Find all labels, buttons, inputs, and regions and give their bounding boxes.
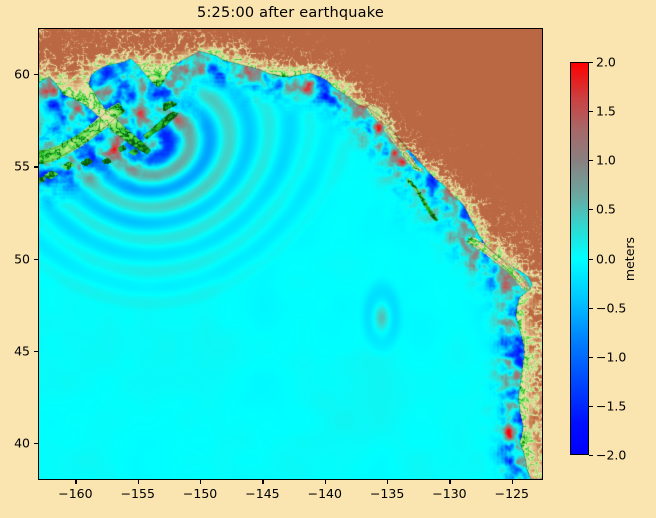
x-tick-mark bbox=[387, 480, 388, 484]
colorbar-tick-label: 0.5 bbox=[596, 202, 616, 217]
map-plot-area[interactable] bbox=[38, 28, 543, 480]
x-tick-label: −140 bbox=[308, 486, 342, 501]
x-tick-label: −125 bbox=[495, 486, 529, 501]
colorbar-tick-label: 2.0 bbox=[596, 55, 616, 70]
figure-canvas: 5:25:00 after earthquake −160−155−150−14… bbox=[0, 0, 656, 518]
colorbar-tick-label: 1.0 bbox=[596, 153, 616, 168]
y-tick-label: 55 bbox=[14, 159, 30, 174]
colorbar-tick-mark bbox=[589, 455, 593, 456]
x-tick-mark bbox=[138, 480, 139, 484]
colorbar-tick-mark bbox=[589, 259, 593, 260]
x-tick-mark bbox=[262, 480, 263, 484]
colorbar-tick-mark bbox=[589, 357, 593, 358]
colorbar-gradient[interactable] bbox=[570, 62, 589, 455]
colorbar-tick-label: 0.0 bbox=[596, 251, 616, 266]
colorbar-tick-mark bbox=[589, 62, 593, 63]
y-tick-label: 45 bbox=[14, 343, 30, 358]
colorbar-tick-label: 1.5 bbox=[596, 104, 616, 119]
colorbar-tick-label: −0.5 bbox=[596, 300, 626, 315]
x-tick-label: −145 bbox=[245, 486, 279, 501]
page-title: 5:25:00 after earthquake bbox=[38, 5, 543, 21]
x-tick-label: −150 bbox=[183, 486, 217, 501]
x-tick-mark bbox=[512, 480, 513, 484]
colorbar-tick-label: −2.0 bbox=[596, 448, 626, 463]
colorbar-label: meters bbox=[622, 237, 637, 281]
x-tick-label: −160 bbox=[58, 486, 92, 501]
y-tick-label: 40 bbox=[14, 436, 30, 451]
colorbar-tick-label: −1.0 bbox=[596, 349, 626, 364]
colorbar-tick-mark bbox=[589, 111, 593, 112]
colorbar-tick-label: −1.5 bbox=[596, 398, 626, 413]
y-tick-mark bbox=[34, 351, 38, 352]
colorbar-tick-mark bbox=[589, 308, 593, 309]
x-tick-mark bbox=[449, 480, 450, 484]
x-tick-mark bbox=[325, 480, 326, 484]
x-tick-mark bbox=[75, 480, 76, 484]
colorbar-tick-mark bbox=[589, 160, 593, 161]
y-tick-label: 50 bbox=[14, 251, 30, 266]
colorbar-tick-mark bbox=[589, 209, 593, 210]
y-tick-mark bbox=[34, 74, 38, 75]
tsunami-heatmap bbox=[39, 29, 542, 479]
x-tick-mark bbox=[200, 480, 201, 484]
x-tick-label: −130 bbox=[432, 486, 466, 501]
x-tick-label: −135 bbox=[370, 486, 404, 501]
y-tick-label: 60 bbox=[14, 67, 30, 82]
x-tick-label: −155 bbox=[121, 486, 155, 501]
y-tick-mark bbox=[34, 259, 38, 260]
y-tick-mark bbox=[34, 166, 38, 167]
y-tick-mark bbox=[34, 443, 38, 444]
colorbar-tick-mark bbox=[589, 406, 593, 407]
